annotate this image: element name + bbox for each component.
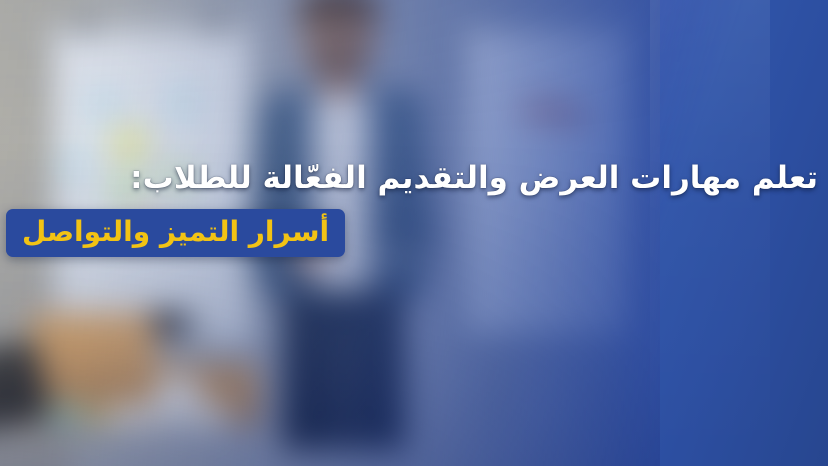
overlay-text-block: تعلم مهارات العرض والتقديم الفعّالة للطل…: [6, 160, 818, 257]
headline-text: تعلم مهارات العرض والتقديم الفعّالة للطل…: [6, 160, 818, 198]
thumbnail-canvas: تعلم مهارات العرض والتقديم الفعّالة للطل…: [0, 0, 828, 466]
subline-badge: أسرار التميز والتواصل: [6, 209, 345, 257]
subline-row: أسرار التميز والتواصل: [6, 209, 818, 257]
